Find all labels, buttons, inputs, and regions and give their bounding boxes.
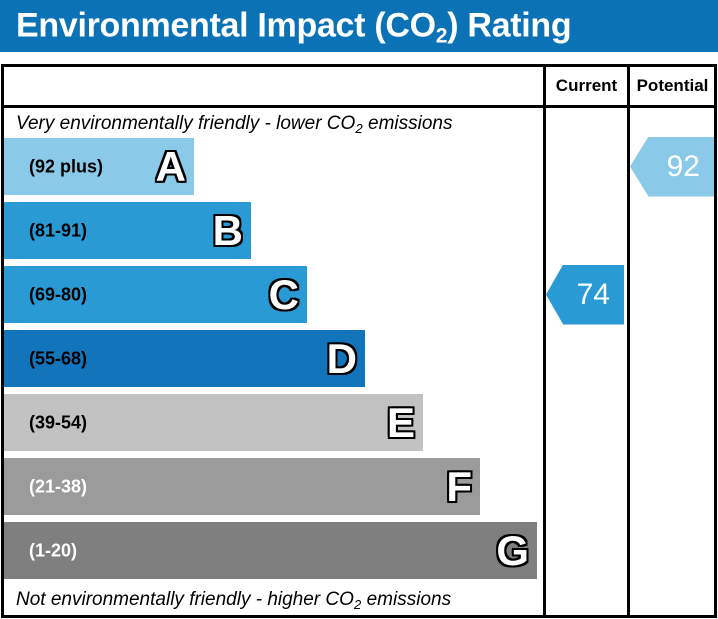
band-range-e: (39-54) — [29, 412, 87, 433]
chart-title-bar: Environmental Impact (CO2) Rating — [0, 0, 718, 52]
page-title-suffix: ) Rating — [447, 7, 571, 45]
column-header-potential: Potential — [630, 67, 715, 105]
caption-top-subscript: 2 — [355, 121, 362, 136]
band-letter-d: D — [327, 338, 357, 380]
band-range-a: (92 plus) — [29, 156, 103, 177]
caption-top-prefix: Very environmentally friendly - lower CO — [16, 113, 355, 134]
epc-environmental-impact-chart: Environmental Impact (CO2) Rating Curren… — [0, 0, 718, 619]
page-title: Environmental Impact (CO2) Rating — [16, 7, 571, 46]
caption-bottom-prefix: Not environmentally friendly - higher CO — [16, 589, 354, 610]
caption-top-suffix: emissions — [363, 113, 453, 134]
column-divider-potential — [627, 64, 630, 618]
band-letter-c: C — [269, 274, 299, 316]
band-letter-a: A — [156, 146, 186, 188]
caption-bottom-suffix: emissions — [361, 589, 451, 610]
caption-bottom-subscript: 2 — [354, 597, 361, 612]
band-range-d: (55-68) — [29, 348, 87, 369]
band-letter-g: G — [496, 530, 529, 572]
band-letter-f: F — [446, 466, 472, 508]
column-header-current: Current — [546, 67, 627, 105]
rating-band-e: (39-54)E — [4, 394, 423, 451]
current-rating-value: 74 — [577, 280, 610, 310]
caption-top: Very environmentally friendly - lower CO… — [16, 110, 452, 138]
rating-band-f: (21-38)F — [4, 458, 480, 515]
potential-rating-value: 92 — [667, 152, 700, 182]
band-range-g: (1-20) — [29, 540, 77, 561]
band-letter-b: B — [213, 210, 243, 252]
rating-band-a: (92 plus)A — [4, 138, 194, 195]
page-title-subscript: 2 — [436, 25, 447, 48]
header-row-divider — [1, 105, 717, 108]
band-range-b: (81-91) — [29, 220, 87, 241]
band-range-c: (69-80) — [29, 284, 87, 305]
band-range-f: (21-38) — [29, 476, 87, 497]
band-letter-e: E — [387, 402, 415, 444]
page-title-prefix: Environmental Impact (CO — [16, 7, 436, 45]
rating-band-c: (69-80)C — [4, 266, 307, 323]
caption-bottom: Not environmentally friendly - higher CO… — [16, 586, 451, 614]
rating-band-g: (1-20)G — [4, 522, 537, 579]
column-divider-current — [543, 64, 546, 618]
rating-band-b: (81-91)B — [4, 202, 251, 259]
rating-band-d: (55-68)D — [4, 330, 365, 387]
